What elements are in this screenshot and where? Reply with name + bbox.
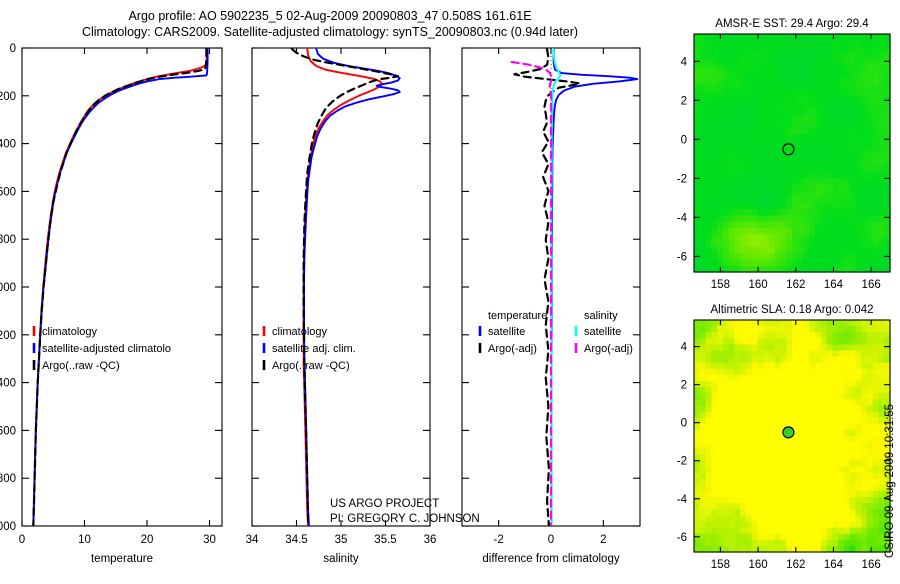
map-cell	[798, 122, 804, 129]
map-cell	[844, 509, 850, 516]
map-cell	[838, 344, 844, 351]
map-cell	[873, 430, 879, 437]
map-cell	[815, 479, 821, 486]
map-cell	[717, 332, 723, 339]
map-x-tick-label: 158	[711, 279, 730, 291]
map-cell	[763, 479, 769, 486]
map-cell	[706, 84, 712, 91]
map-cell	[867, 491, 873, 498]
map-cell	[804, 338, 810, 345]
map-cell	[775, 338, 781, 345]
map-cell	[792, 357, 798, 364]
map-cell	[775, 72, 781, 79]
map-cell	[792, 159, 798, 166]
map-cell	[706, 178, 712, 185]
map-cell	[723, 103, 729, 110]
map-cell	[723, 479, 729, 486]
map-cell	[798, 72, 804, 79]
map-cell	[821, 72, 827, 79]
map-cell	[775, 491, 781, 498]
map-cell	[844, 140, 850, 147]
map-cell	[734, 369, 740, 376]
map-cell	[838, 209, 844, 216]
map-cell	[763, 521, 769, 528]
map-cell	[717, 454, 723, 461]
map-cell	[700, 191, 706, 198]
map-cell	[844, 393, 850, 400]
map-cell	[723, 418, 729, 425]
map-cell	[706, 191, 712, 198]
map-cell	[786, 357, 792, 364]
map-cell	[815, 405, 821, 412]
map-cell	[769, 234, 775, 241]
map-cell	[780, 209, 786, 216]
map-cell	[850, 234, 856, 241]
map-cell	[746, 59, 752, 66]
map-cell	[717, 509, 723, 516]
map-cell	[706, 97, 712, 104]
map-cell	[723, 344, 729, 351]
map-cell	[734, 115, 740, 122]
map-cell	[763, 405, 769, 412]
map-cell	[838, 203, 844, 210]
legend-label: climatology	[42, 326, 98, 338]
map-cell	[844, 197, 850, 204]
map-cell	[850, 115, 856, 122]
map-cell	[775, 197, 781, 204]
map-cell	[786, 122, 792, 129]
map-cell	[723, 430, 729, 437]
map-cell	[844, 369, 850, 376]
map-cell	[873, 369, 879, 376]
map-cell	[861, 122, 867, 129]
map-cell	[861, 34, 867, 41]
map-cell	[757, 59, 763, 66]
map-cell	[729, 320, 735, 327]
x-tick-label: 30	[203, 534, 216, 546]
map-cell	[867, 122, 873, 129]
map-cell	[700, 412, 706, 419]
map-cell	[723, 203, 729, 210]
map-cell	[723, 172, 729, 179]
map-cell	[809, 473, 815, 480]
map-cell	[850, 418, 856, 425]
map-cell	[792, 234, 798, 241]
map-cell	[694, 222, 700, 229]
map-cell	[711, 253, 717, 260]
map-cell	[838, 326, 844, 333]
map-cell	[873, 90, 879, 97]
map-cell	[798, 178, 804, 185]
map-cell	[775, 363, 781, 370]
map-cell	[815, 153, 821, 160]
map-cell	[769, 454, 775, 461]
map-cell	[867, 521, 873, 528]
map-cell	[723, 424, 729, 431]
map-cell	[780, 393, 786, 400]
map-cell	[775, 59, 781, 66]
map-cell	[752, 369, 758, 376]
map-cell	[775, 467, 781, 474]
map-cell	[729, 473, 735, 480]
map-cell	[873, 485, 879, 492]
map-cell	[873, 166, 879, 173]
map-cell	[775, 191, 781, 198]
map-cell	[740, 344, 746, 351]
map-cell	[855, 72, 861, 79]
map-cell	[740, 363, 746, 370]
map-cell	[832, 540, 838, 547]
map-cell	[746, 72, 752, 79]
map-cell	[878, 363, 884, 370]
map-cell	[706, 109, 712, 116]
map-cell	[804, 166, 810, 173]
map-cell	[723, 97, 729, 104]
map-cell	[711, 216, 717, 223]
map-cell	[734, 59, 740, 66]
map-cell	[809, 424, 815, 431]
map-cell	[706, 166, 712, 173]
map-cell	[786, 247, 792, 254]
map-cell	[752, 184, 758, 191]
map-cell	[861, 460, 867, 467]
map-cell	[798, 405, 804, 412]
map-cell	[711, 90, 717, 97]
map-cell	[832, 247, 838, 254]
map-cell	[838, 159, 844, 166]
map-cell	[861, 405, 867, 412]
map-cell	[844, 363, 850, 370]
map-cell	[746, 387, 752, 394]
map-cell	[780, 509, 786, 516]
map-cell	[827, 222, 833, 229]
map-cell	[792, 515, 798, 522]
map-cell	[746, 247, 752, 254]
map-cell	[844, 454, 850, 461]
map-cell	[763, 90, 769, 97]
map-cell	[775, 178, 781, 185]
map-cell	[706, 247, 712, 254]
map-cell	[861, 140, 867, 147]
map-cell	[723, 191, 729, 198]
map-cell	[746, 128, 752, 135]
map-cell	[878, 159, 884, 166]
map-cell	[769, 534, 775, 541]
map-cell	[815, 509, 821, 516]
map-cell	[786, 209, 792, 216]
map-cell	[873, 381, 879, 388]
map-cell	[815, 178, 821, 185]
x-axis-label: temperature	[91, 553, 153, 565]
map-cell	[850, 442, 856, 449]
map-cell	[700, 53, 706, 60]
map-cell	[694, 122, 700, 129]
map-cell	[752, 497, 758, 504]
map-cell	[717, 467, 723, 474]
map-cell	[873, 534, 879, 541]
map-cell	[855, 363, 861, 370]
map-cell	[861, 90, 867, 97]
map-cell	[850, 122, 856, 129]
map-cell	[769, 503, 775, 510]
map-cell	[694, 412, 700, 419]
map-cell	[706, 454, 712, 461]
map-cell	[706, 485, 712, 492]
map-cell	[838, 405, 844, 412]
map-cell	[827, 109, 833, 116]
map-cell	[850, 47, 856, 54]
map-cell	[815, 122, 821, 129]
map-cell	[798, 78, 804, 85]
map-cell	[867, 109, 873, 116]
map-cell	[694, 344, 700, 351]
map-cell	[723, 393, 729, 400]
map-cell	[723, 381, 729, 388]
map-cell	[850, 209, 856, 216]
map-cell	[809, 387, 815, 394]
map-cell	[798, 357, 804, 364]
map-cell	[752, 503, 758, 510]
map-cell	[757, 473, 763, 480]
map-cell	[746, 442, 752, 449]
map-cell	[780, 109, 786, 116]
map-cell	[798, 363, 804, 370]
map-cell	[827, 197, 833, 204]
map-cell	[734, 228, 740, 235]
map-cell	[729, 166, 735, 173]
map-cell	[855, 197, 861, 204]
map-cell	[769, 467, 775, 474]
map-cell	[717, 40, 723, 47]
map-cell	[740, 234, 746, 241]
map-cell	[832, 203, 838, 210]
map-cell	[763, 84, 769, 91]
map-cell	[867, 418, 873, 425]
map-cell	[763, 253, 769, 260]
map-cell	[723, 53, 729, 60]
map-cell	[821, 122, 827, 129]
map-cell	[757, 332, 763, 339]
map-cell	[775, 503, 781, 510]
map-cell	[821, 109, 827, 116]
map-cell	[775, 405, 781, 412]
map-cell	[838, 430, 844, 437]
map-cell	[867, 72, 873, 79]
map-cell	[769, 369, 775, 376]
map-cell	[786, 509, 792, 516]
map-cell	[723, 436, 729, 443]
map-cell	[694, 503, 700, 510]
map-cell	[821, 393, 827, 400]
map-cell	[752, 326, 758, 333]
map-cell	[838, 241, 844, 248]
map-cell	[804, 509, 810, 516]
map-cell	[878, 84, 884, 91]
plot-frame	[252, 48, 430, 526]
map-cell	[861, 159, 867, 166]
principal-investigator: PI: GREGORY C. JOHNSON	[330, 512, 480, 527]
map-cell	[827, 153, 833, 160]
map-cell	[740, 509, 746, 516]
map-cell	[729, 115, 735, 122]
map-cell	[844, 78, 850, 85]
map-cell	[804, 357, 810, 364]
map-cell	[867, 369, 873, 376]
map-cell	[734, 159, 740, 166]
map-cell	[827, 479, 833, 486]
map-cell	[711, 357, 717, 364]
map-cell	[763, 228, 769, 235]
map-cell	[827, 528, 833, 535]
map-cell	[740, 332, 746, 339]
map-cell	[763, 78, 769, 85]
map-cell	[775, 128, 781, 135]
map-cell	[855, 97, 861, 104]
map-cell	[832, 134, 838, 141]
x-tick-label: 0	[548, 534, 554, 546]
map-cell	[734, 491, 740, 498]
map-cell	[786, 485, 792, 492]
map-cell	[838, 357, 844, 364]
x-tick-label: 2	[600, 534, 606, 546]
map-cell	[792, 172, 798, 179]
map-cell	[827, 128, 833, 135]
map-cell	[717, 222, 723, 229]
map-cell	[734, 515, 740, 522]
map-cell	[815, 34, 821, 41]
map-cell	[769, 65, 775, 72]
map-cell	[729, 259, 735, 266]
map-cell	[775, 53, 781, 60]
map-cell	[700, 338, 706, 345]
map-cell	[746, 122, 752, 129]
map-cell	[775, 424, 781, 431]
map-cell	[873, 140, 879, 147]
map-cell	[734, 90, 740, 97]
map-cell	[746, 228, 752, 235]
map-cell	[734, 128, 740, 135]
map-cell	[780, 473, 786, 480]
map-cell	[694, 393, 700, 400]
map-cell	[792, 369, 798, 376]
map-cell	[723, 115, 729, 122]
map-cell	[855, 351, 861, 358]
map-cell	[746, 178, 752, 185]
map-cell	[844, 424, 850, 431]
map-cell	[809, 351, 815, 358]
map-cell	[763, 418, 769, 425]
map-cell	[711, 534, 717, 541]
x-tick-label: 0	[19, 534, 25, 546]
map-cell	[763, 72, 769, 79]
map-cell	[717, 178, 723, 185]
y-tick-label: 0	[10, 43, 16, 55]
map-cell	[815, 197, 821, 204]
map-cell	[711, 448, 717, 455]
map-cell	[850, 320, 856, 327]
map-cell	[786, 166, 792, 173]
map-cell	[838, 320, 844, 327]
map-x-tick-label: 164	[824, 559, 844, 571]
map-cell	[723, 534, 729, 541]
map-cell	[711, 178, 717, 185]
map-cell	[838, 424, 844, 431]
map-cell	[804, 47, 810, 54]
map-cell	[867, 393, 873, 400]
map-cell	[729, 393, 735, 400]
map-cell	[861, 509, 867, 516]
map-cell	[769, 153, 775, 160]
map-cell	[827, 412, 833, 419]
y-tick-label: 1800	[0, 473, 16, 485]
map-cell	[717, 448, 723, 455]
map-cell	[717, 412, 723, 419]
map-cell	[878, 53, 884, 60]
map-cell	[832, 412, 838, 419]
map-cell	[706, 140, 712, 147]
map-cell	[827, 344, 833, 351]
map-cell	[729, 326, 735, 333]
map-cell	[809, 78, 815, 85]
map-cell	[861, 351, 867, 358]
map-cell	[815, 381, 821, 388]
map-cell	[798, 467, 804, 474]
map-cell	[821, 442, 827, 449]
map-cell	[786, 72, 792, 79]
map-cell	[878, 90, 884, 97]
map-cell	[717, 122, 723, 129]
map-cell	[827, 338, 833, 345]
map-cell	[815, 103, 821, 110]
map-cell	[780, 34, 786, 41]
series-line	[552, 48, 638, 526]
float-position-marker[interactable]	[783, 427, 794, 438]
map-cell	[734, 534, 740, 541]
map-cell	[729, 97, 735, 104]
map-cell	[844, 172, 850, 179]
map-cell	[873, 320, 879, 327]
map-cell	[769, 209, 775, 216]
map-cell	[815, 209, 821, 216]
map-cell	[700, 503, 706, 510]
map-cell	[878, 247, 884, 254]
map-cell	[792, 521, 798, 528]
map-cell	[711, 418, 717, 425]
map-cell	[763, 357, 769, 364]
map-cell	[827, 122, 833, 129]
map-cell	[855, 540, 861, 547]
map-cell	[867, 351, 873, 358]
map-cell	[757, 448, 763, 455]
map-cell	[832, 344, 838, 351]
map-cell	[798, 209, 804, 216]
map-cell	[838, 515, 844, 522]
map-cell	[804, 84, 810, 91]
map-cell	[706, 184, 712, 191]
y-tick-label: 800	[0, 234, 16, 246]
map-cell	[752, 381, 758, 388]
map-cell	[723, 521, 729, 528]
map-cell	[757, 369, 763, 376]
map-cell	[752, 430, 758, 437]
map-cell	[844, 497, 850, 504]
map-cell	[757, 412, 763, 419]
map-cell	[775, 40, 781, 47]
map-cell	[706, 103, 712, 110]
map-cell	[700, 241, 706, 248]
map-cell	[861, 115, 867, 122]
map-cell	[832, 405, 838, 412]
